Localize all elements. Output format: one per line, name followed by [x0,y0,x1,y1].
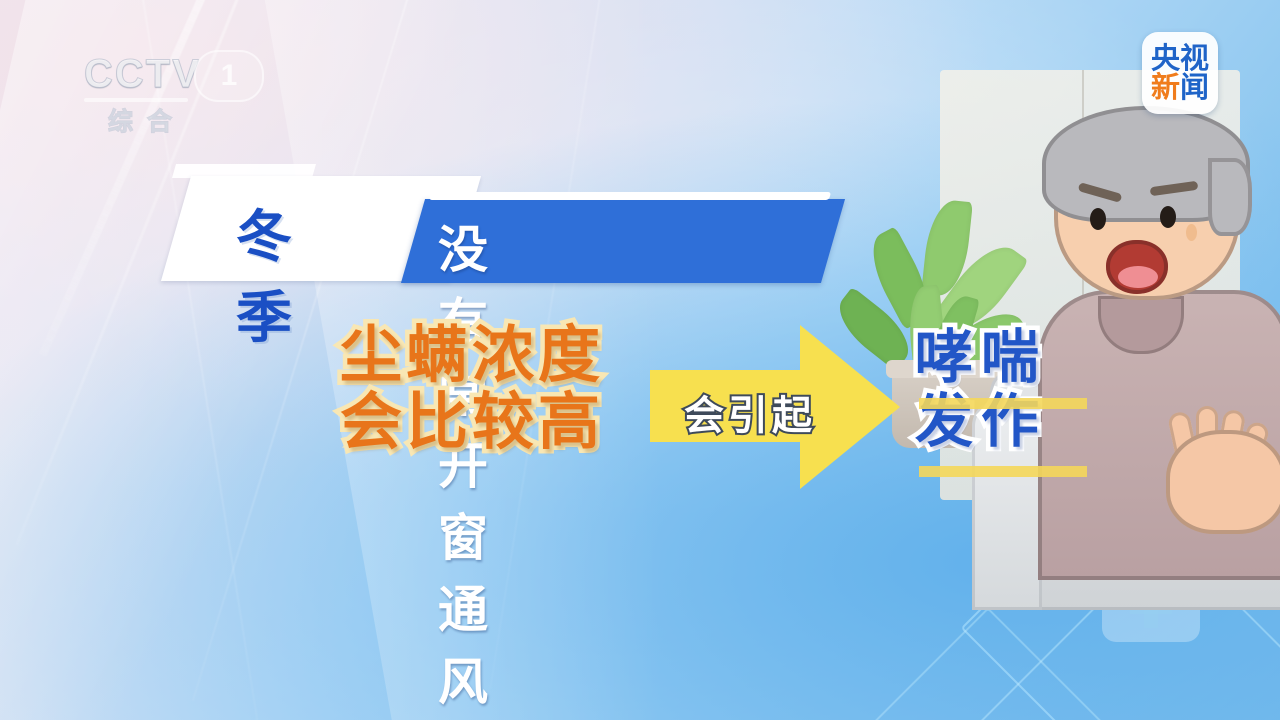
person-eye [1090,208,1106,230]
cctv-news-badge: 央 视 新 闻 [1142,32,1218,114]
channel-logo-subtitle: 综合 [108,102,186,138]
sweat-drop-icon [1186,224,1197,241]
person-tongue [1118,266,1158,288]
badge-char-yang: 央 [1151,44,1180,73]
person-eye [1160,206,1176,228]
banner-season-label: 冬季 [236,192,298,354]
badge-char-wen: 闻 [1180,73,1209,102]
elderly-person-illustration [1010,100,1280,570]
causation-arrow: 会引起 [650,325,900,490]
badge-char-xin: 新 [1151,73,1180,102]
cause-line-2: 会比较高 [340,389,604,456]
effect-line-1: 哮喘 [915,326,1047,390]
arrow-label: 会引起 [684,383,816,441]
cause-line-1: 尘螨浓度 [340,322,604,389]
person-hand-on-chest [1166,430,1280,534]
effect-underline [919,398,1087,409]
lower-third: 今晚披露 晚间新闻 冬季哮喘高发季 如何科学防护？ [0,560,1280,720]
cause-callout: 尘螨浓度 会比较高 [340,322,604,456]
cctv-news-badge-row-1: 央 视 [1151,44,1209,73]
channel-number: 1 [194,50,264,102]
channel-logo: CCTV 1 综合 [84,52,274,136]
badge-char-shi: 视 [1180,44,1209,73]
broadcast-screen: CCTV 1 综合 央 视 新 闻 冬季 没有常开窗通风 尘螨浓度 会比较高 会… [0,0,1280,720]
banner-blue-highlight [429,192,831,200]
effect-callout: 哮喘 发作 [915,326,1047,454]
cctv-news-badge-row-2: 新 闻 [1151,73,1209,102]
effect-underline [919,466,1087,477]
person-hair [1042,106,1250,222]
